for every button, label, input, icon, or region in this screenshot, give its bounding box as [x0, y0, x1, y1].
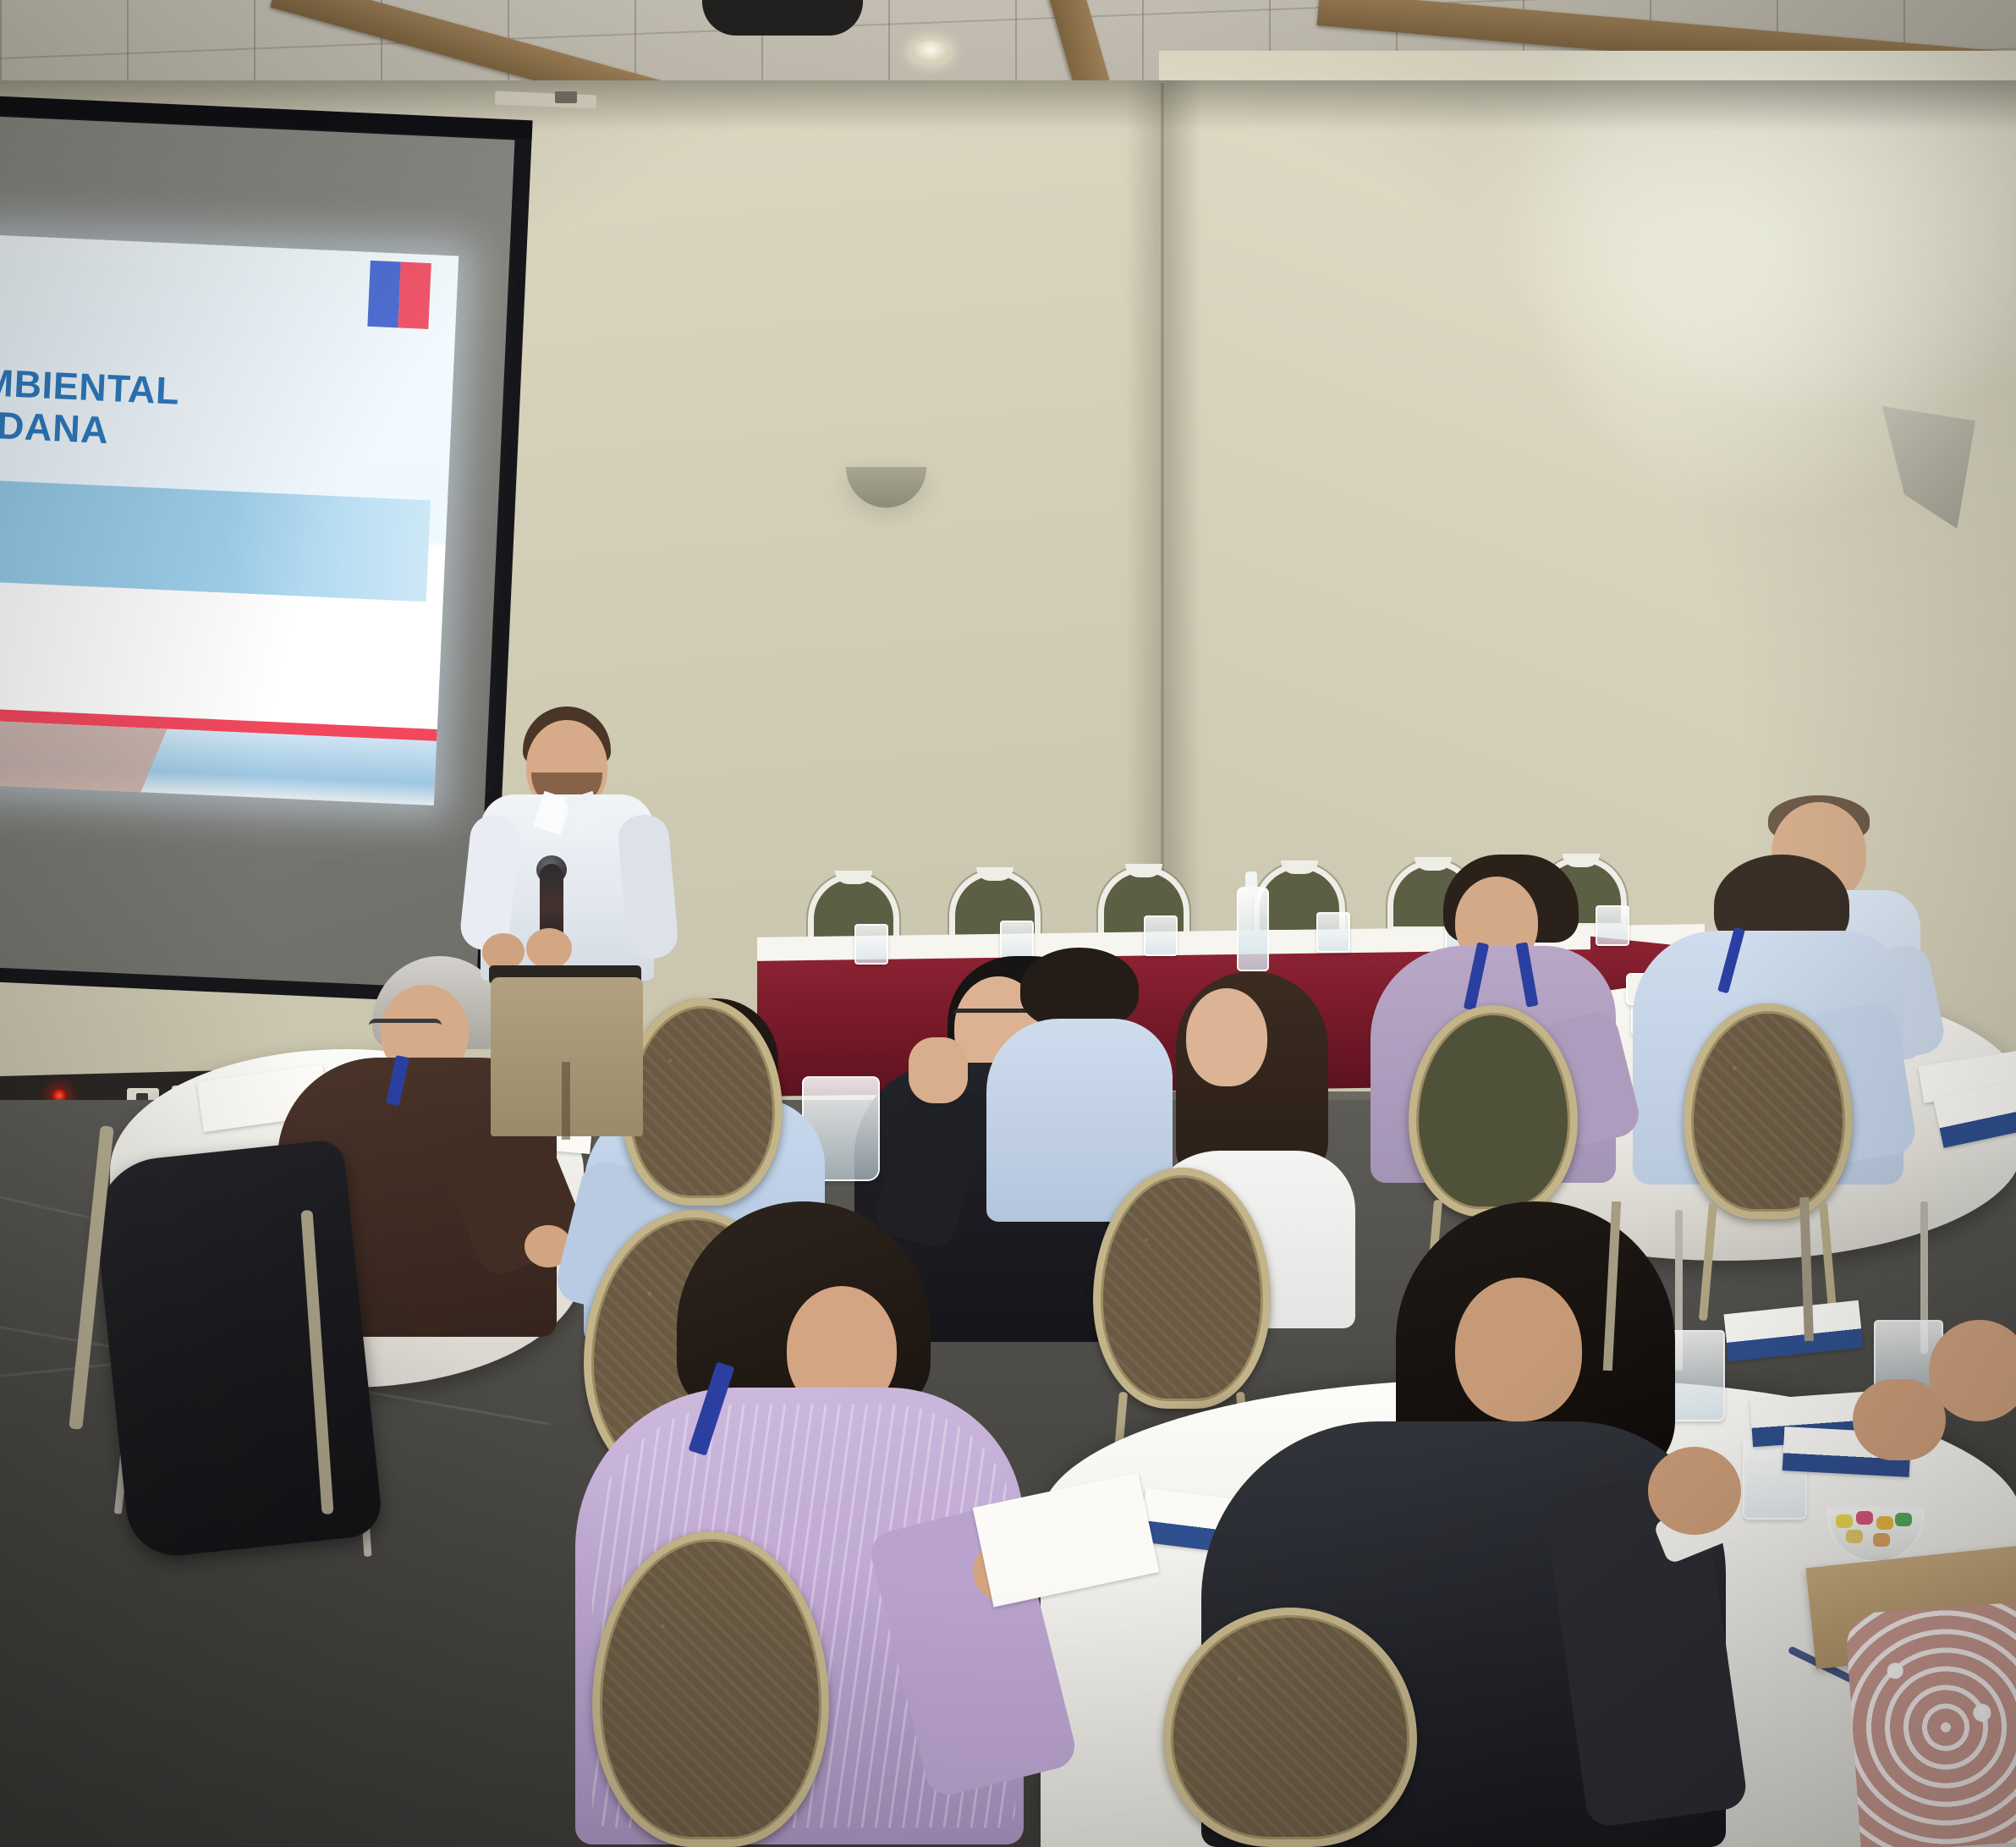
slide-title: LUACIÓN AMBIENTAL CIÓN CIUDADANA	[0, 352, 393, 465]
presentation-slide: LUACIÓN AMBIENTAL CIÓN CIUDADANA E DE GE…	[0, 232, 459, 805]
banquet-chair[interactable]	[1684, 1003, 1853, 1219]
hand	[1853, 1379, 1946, 1460]
ceiling-speaker-icon	[702, 0, 863, 36]
person-lace-top-woman	[1844, 1602, 2016, 1847]
head	[1455, 1278, 1582, 1421]
banquet-chair[interactable]	[1163, 1608, 1417, 1847]
water-glass[interactable]	[1316, 912, 1350, 953]
hand	[909, 1037, 968, 1103]
ceiling-downlight-icon	[912, 41, 949, 63]
jacket-on-chair	[90, 1139, 383, 1561]
hand	[1648, 1447, 1741, 1535]
screen-surface: LUACIÓN AMBIENTAL CIÓN CIUDADANA E DE GE…	[0, 115, 515, 989]
projection-screen: LUACIÓN AMBIENTAL CIÓN CIUDADANA E DE GE…	[0, 100, 532, 1004]
screen-roller-bracket	[555, 91, 577, 103]
head	[1186, 988, 1267, 1086]
person-presenter	[457, 706, 685, 1130]
water-bottle-neck	[1245, 871, 1257, 892]
hair	[1020, 948, 1139, 1029]
conference-room-photo: LUACIÓN AMBIENTAL CIÓN CIUDADANA E DE GE…	[0, 0, 2016, 1847]
banquet-chair[interactable]	[592, 1531, 829, 1847]
trouser-seam	[562, 1062, 570, 1140]
hand	[526, 928, 572, 969]
chile-flag-icon	[367, 261, 431, 329]
banquet-chair[interactable]	[1409, 1005, 1578, 1217]
eyeglasses-icon	[369, 1019, 442, 1035]
water-bottle[interactable]	[1237, 887, 1269, 971]
